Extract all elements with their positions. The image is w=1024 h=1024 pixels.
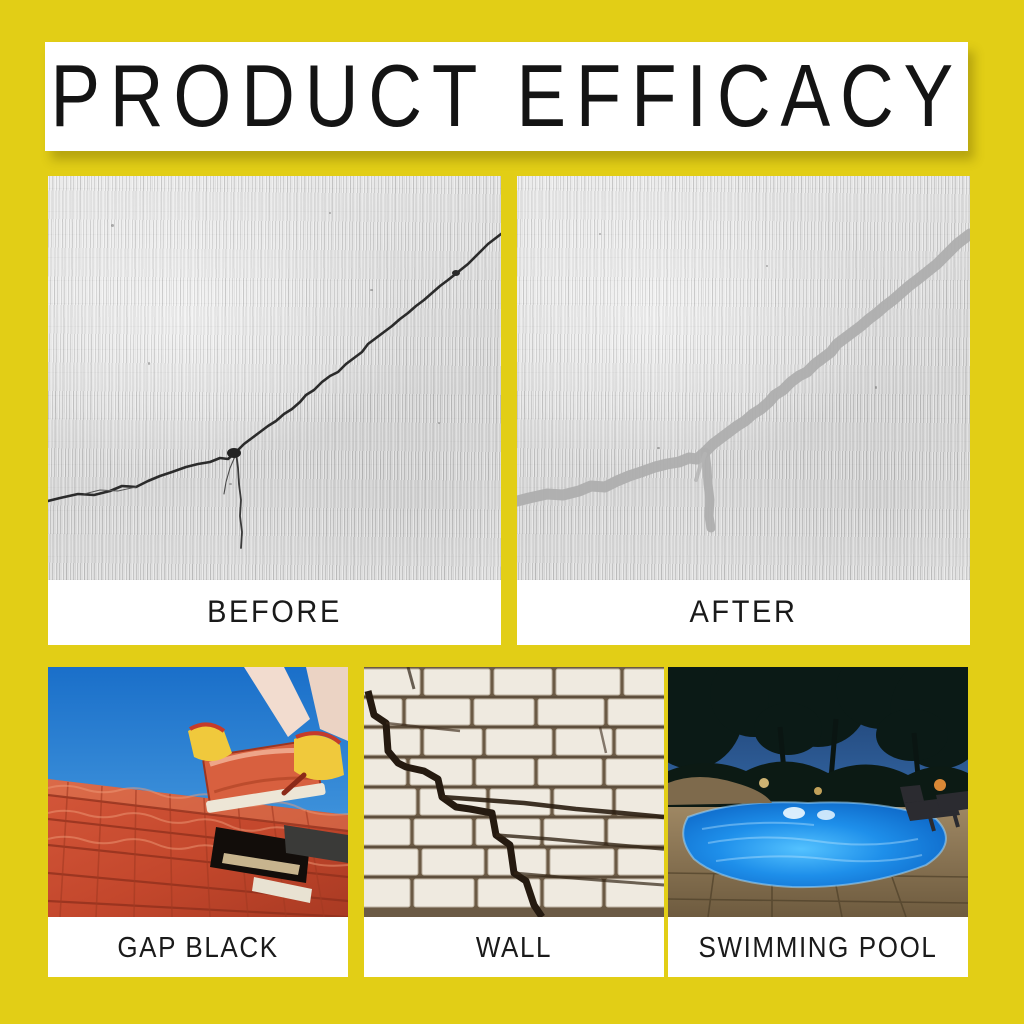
swimming-pool-label: SWIMMING POOL [699,933,938,962]
product-efficacy-poster: PRODUCT EFFICACY BEFORE [0,0,1024,1024]
before-card: BEFORE [48,176,501,645]
roof-tile-photo [48,667,348,917]
wall-label: WALL [476,933,552,962]
application-card-wall: WALL [364,667,664,977]
before-label: BEFORE [207,597,342,629]
after-label-bar: AFTER [517,580,970,645]
gap-black-label: GAP BLACK [117,933,278,962]
before-photo [48,176,501,580]
after-label: AFTER [689,597,797,629]
cracked-brick-wall-illustration-icon [364,667,664,917]
crack-after-sealed-icon [517,176,970,580]
title-bar: PRODUCT EFFICACY [45,42,968,151]
roof-repair-illustration-icon [48,667,348,917]
page-title: PRODUCT EFFICACY [50,52,963,140]
after-card: AFTER [517,176,970,645]
gap-black-label-bar: GAP BLACK [48,917,348,977]
swimming-pool-photo [668,667,968,917]
wall-label-bar: WALL [364,917,664,977]
before-label-bar: BEFORE [48,580,501,645]
night-pool-illustration-icon [668,667,968,917]
brick-wall-photo [364,667,664,917]
application-card-swimming-pool: SWIMMING POOL [668,667,968,977]
application-card-gap-black: GAP BLACK [48,667,348,977]
swimming-pool-label-bar: SWIMMING POOL [668,917,968,977]
after-photo [517,176,970,580]
crack-before-icon [48,176,501,580]
